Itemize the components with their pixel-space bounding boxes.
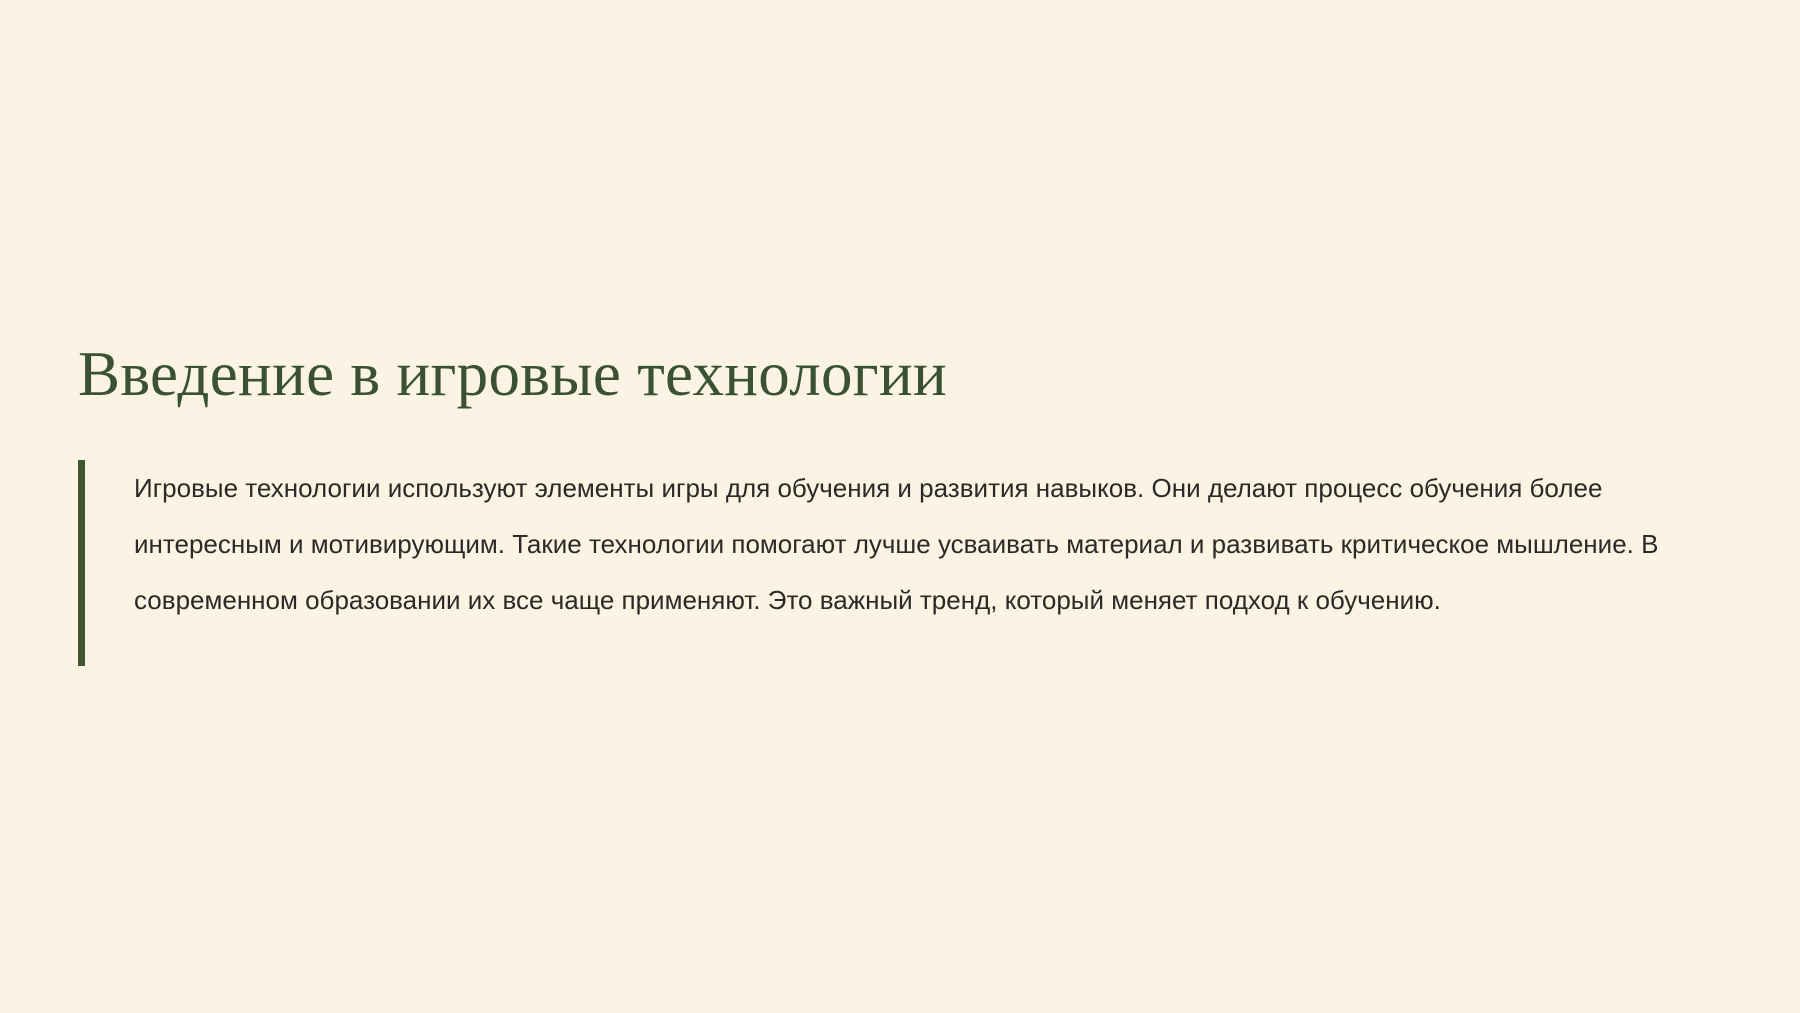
body-paragraph: Игровые технологии используют элементы и… [134, 460, 1694, 628]
slide-title: Введение в игровые технологии [78, 340, 1698, 408]
slide-content: Введение в игровые технологии Игровые те… [78, 340, 1698, 666]
accent-bar [78, 460, 85, 666]
slide-canvas: Введение в игровые технологии Игровые те… [0, 0, 1800, 1013]
body-quote-block: Игровые технологии используют элементы и… [78, 460, 1698, 666]
